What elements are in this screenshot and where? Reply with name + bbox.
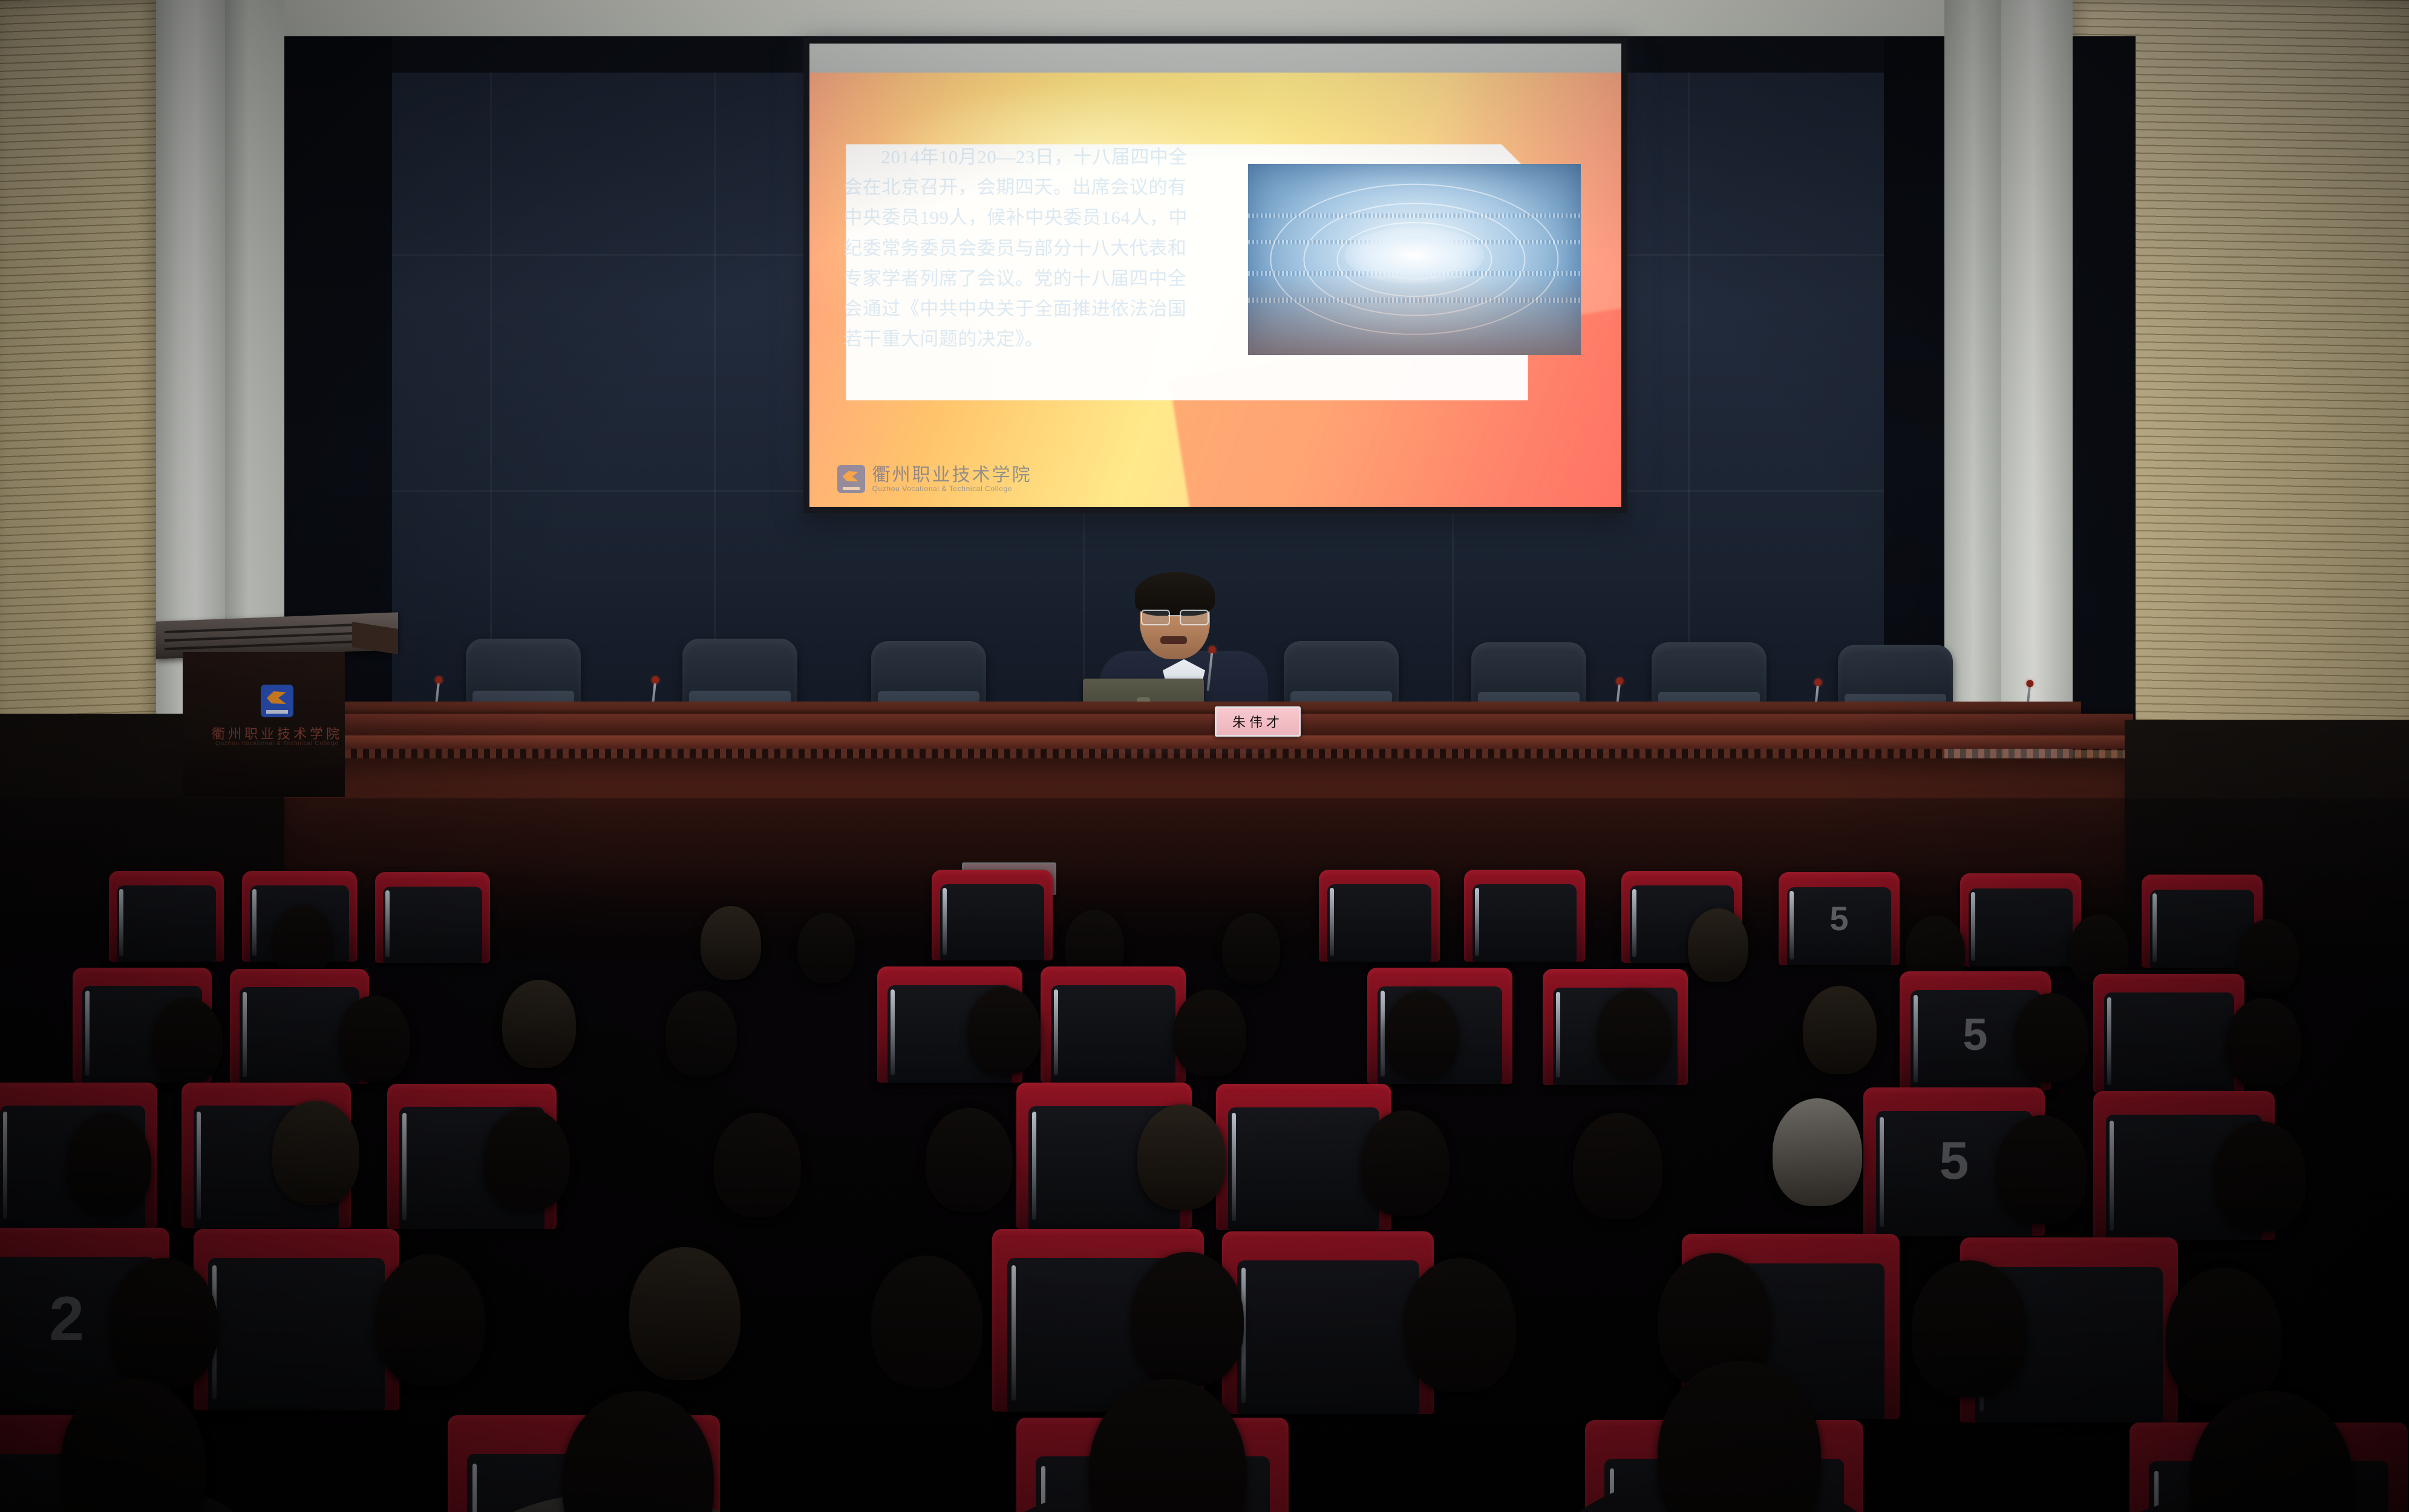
slide-photo-great-hall — [1248, 164, 1581, 355]
seat-number: 2 — [49, 1283, 84, 1355]
audience-head — [629, 1247, 740, 1380]
audience-head — [152, 998, 223, 1083]
audience-house: 5 — [0, 798, 2409, 1512]
audience-head — [1385, 991, 1458, 1078]
audience-head — [1137, 1104, 1226, 1210]
audience-head — [2214, 1121, 2306, 1231]
seat-number: 5 — [1940, 1130, 1969, 1191]
lectern: 衢州职业技术学院 Quzhou Vocational & Technical C… — [156, 617, 398, 798]
audience-head — [2226, 998, 2301, 1089]
college-logo-icon — [837, 465, 865, 493]
audience-head — [1404, 1258, 1516, 1392]
auditorium-seat — [2093, 974, 2244, 1092]
audience-head — [1912, 1260, 2027, 1397]
auditorium-seat — [375, 872, 490, 963]
nameplate-speaker: 朱伟才 — [1215, 706, 1301, 737]
seat-number: 5 — [1829, 899, 1848, 938]
projection-screen: 2014年10月20—23日，十八届四中全会在北京召开，会期四天。出席会议的有中… — [803, 37, 1627, 513]
audience-head — [109, 1258, 218, 1389]
audience-head — [563, 1391, 714, 1512]
slide-logo-en: Quzhou Vocational & Technical College — [872, 485, 1032, 493]
audience-head — [968, 987, 1041, 1074]
audience-head — [1222, 913, 1280, 985]
screen-top-strip — [809, 44, 1621, 73]
audience-head — [926, 1108, 1013, 1212]
audience-head — [1996, 1115, 2087, 1224]
dais-lip — [282, 735, 2133, 749]
audience-head — [2015, 993, 2088, 1083]
auditorium-seat — [194, 1229, 399, 1410]
audience-head — [2238, 919, 2299, 993]
audience-head — [272, 1101, 359, 1205]
audience-head — [484, 1108, 570, 1211]
auditorium-photo: 2014年10月20—23日，十八届四中全会在北京召开，会期四天。出席会议的有中… — [0, 0, 2409, 1512]
auditorium-seat — [109, 871, 224, 962]
auditorium-seat — [1319, 870, 1440, 962]
audience-head — [1174, 989, 1246, 1077]
audience-head — [1361, 1110, 1450, 1216]
audience-head — [1597, 989, 1671, 1078]
audience-head — [273, 905, 332, 976]
audience-head — [797, 913, 855, 983]
audience-head — [871, 1256, 982, 1389]
slide-logo-cn: 衢州职业技术学院 — [872, 465, 1032, 485]
auditorium-seat: 5 — [1779, 872, 1900, 965]
audience-head — [1131, 1252, 1244, 1386]
audience-head — [67, 1113, 151, 1214]
audience-head — [1573, 1113, 1662, 1219]
auditorium-seat — [1960, 873, 2081, 966]
auditorium-seat — [932, 870, 1053, 960]
auditorium-seat — [1222, 1231, 1434, 1414]
speaker-mouth — [1160, 636, 1187, 644]
slide-canvas: 2014年10月20—23日，十八届四中全会在北京召开，会期四天。出席会议的有中… — [809, 73, 1621, 507]
audience-head — [1773, 1098, 1862, 1206]
auditorium-seat — [1464, 870, 1585, 962]
auditorium-seat — [1041, 966, 1186, 1083]
dais-top — [282, 714, 2133, 738]
slide-body-text: 2014年10月20—23日，十八届四中全会在北京召开，会期四天。出席会议的有中… — [843, 142, 1200, 355]
audience-head — [714, 1113, 801, 1217]
audience-head — [502, 980, 576, 1068]
audience-head — [1688, 908, 1748, 982]
lectern-logo-en: Quzhou Vocational & Technical College — [215, 740, 339, 747]
audience-head — [1803, 986, 1877, 1074]
audience-head — [665, 991, 737, 1077]
seat-number: 5 — [1963, 1009, 1987, 1060]
audience-head — [2166, 1268, 2282, 1406]
glasses-icon — [1141, 610, 1209, 623]
college-logo-icon — [261, 685, 293, 717]
audience-head — [339, 996, 410, 1081]
audience-head — [2190, 1391, 2353, 1512]
slide-footer-logo: 衢州职业技术学院 Quzhou Vocational & Technical C… — [837, 465, 1032, 493]
audience-head — [701, 906, 761, 980]
audience-head — [375, 1254, 485, 1386]
